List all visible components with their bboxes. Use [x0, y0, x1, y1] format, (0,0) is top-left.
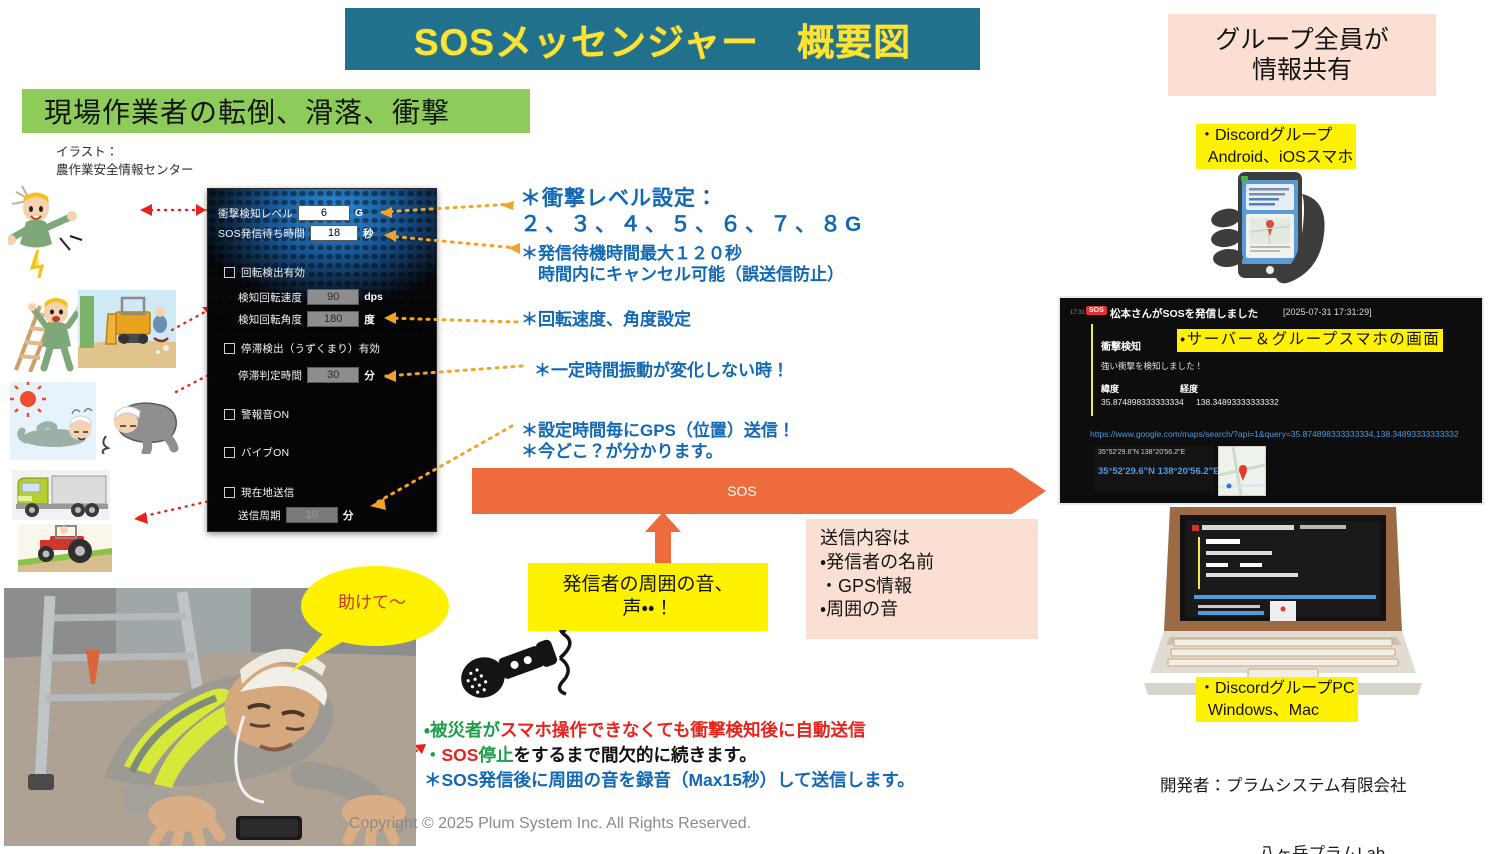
- annotation-shock-level-values: ２、３、４、５、６、７、８G: [520, 211, 865, 239]
- discord-message-title: 松本さんがSOSを発信しました: [1110, 306, 1258, 321]
- bottom-line2-seg3: をするまで間欠的に続きます。: [513, 745, 756, 765]
- group-share-line1: グループ全員が: [1215, 25, 1389, 55]
- bottom-feature-text: ・被災者がスマホ操作できなくても衝撃検知後に自動送信 ・SOS停止をするまで間欠…: [424, 718, 1074, 793]
- illustration-hand-smartphone: [1210, 166, 1370, 296]
- discord-longitude-value: 138.34893333333332: [1196, 397, 1279, 407]
- setting-value-wait-time[interactable]: 18: [310, 225, 358, 241]
- annotation-gps-l1: ＊設定時間毎にGPS（位置）送信！: [521, 420, 795, 442]
- copyright-text: Copyright © 2025 Plum System Inc. All Ri…: [0, 815, 1100, 833]
- setting-label-alarm: 警報音ON: [241, 407, 289, 422]
- setting-row-wait-time[interactable]: SOS発信待ち時間 18 秒: [218, 225, 373, 241]
- setting-checkbox-rotation[interactable]: 回転検出有効: [224, 265, 305, 280]
- setting-label-stagnation-enable: 停滞検出（うずくまり）有効: [241, 341, 380, 356]
- contact-developer-lab: 八ヶ岳プラムLab: [1160, 843, 1508, 854]
- discord-embed-bar: [1091, 324, 1093, 416]
- setting-unit-rotation-speed: dps: [364, 291, 383, 303]
- illustration-bulldozer: [78, 290, 176, 368]
- discord-coord-large: 35°52'29.6"N 138°20'56.2"E: [1098, 466, 1220, 477]
- sound-info-box: 発信者の周囲の音、 声・・！: [528, 563, 768, 631]
- illustration-credit: イラスト： 農作業安全情報センター: [56, 143, 276, 179]
- setting-row-send-cycle[interactable]: 送信周期 10 分: [238, 507, 353, 523]
- sound-info-line2: 声・・！: [623, 597, 674, 621]
- discord-embed-subtext: 強い衝撃を検知しました！: [1101, 360, 1203, 372]
- checkbox-icon[interactable]: [224, 267, 235, 278]
- discord-map-thumbnail[interactable]: [1218, 446, 1266, 496]
- annotation-wait-time-l2: 時間内にキャンセル可能（誤送信防止）: [521, 264, 844, 286]
- setting-value-shock-level[interactable]: 6: [298, 205, 350, 221]
- slide-canvas: SOSメッセンジャー 概要図 現場作業者の転倒、滑落、衝撃 イラスト： 農作業安…: [0, 0, 1508, 854]
- discord-latitude-value: 35.874898333333334: [1101, 397, 1184, 407]
- microphone-icon: [452, 630, 582, 705]
- callout-arrow-rotation: [362, 306, 524, 330]
- bottom-line1-seg1: スマホ操作できなくても衝撃検知後に自動送信: [500, 720, 866, 740]
- setting-label-send-cycle: 送信周期: [238, 508, 281, 523]
- illustration-credit-line2: 農作業安全情報センター: [56, 161, 276, 179]
- discord-coord-small: 35°52'29.6"N 138°20'56.2"E: [1098, 449, 1185, 456]
- annotation-stagnation: ＊一定時間振動が変化しない時！: [534, 360, 789, 382]
- annotation-shock-level-title: ＊衝撃レベル設定：: [520, 185, 718, 213]
- bottom-line1-seg0: ・被災者が: [424, 720, 500, 740]
- red-arrow-shock: [108, 196, 213, 226]
- setting-label-rotation-enable: 回転検出有効: [241, 265, 305, 280]
- send-contents-box: 送信内容は ・発信者の名前 ・GPS情報 ・周囲の音: [806, 519, 1038, 639]
- group-share-line2: 情報共有: [1252, 55, 1352, 85]
- setting-checkbox-stagnation[interactable]: 停滞検出（うずくまり）有効: [224, 341, 380, 356]
- callout-arrow-stagnation: [362, 358, 530, 384]
- setting-label-stagnation-time: 停滞判定時間: [238, 368, 302, 383]
- contact-developer: 開発者：プラムシステム有限会社: [1160, 775, 1508, 798]
- setting-label-vibration: バイブON: [241, 445, 289, 460]
- callout-arrow-wait-time: [362, 222, 524, 254]
- page-title-bar: SOSメッセンジャー 概要図: [345, 8, 980, 70]
- setting-row-rotation-angle[interactable]: 検知回転角度 180 度: [238, 311, 375, 327]
- bottom-feature-line2: ・SOS停止をするまで間欠的に続きます。: [424, 743, 1074, 768]
- illustration-laptop: [1140, 505, 1426, 700]
- send-contents-item-1: ・GPS情報: [820, 575, 1038, 599]
- highlight-server-label: ・サーバー＆グループスマホの画面: [1177, 329, 1443, 352]
- setting-row-stagnation-time[interactable]: 停滞判定時間 30 分: [238, 367, 375, 383]
- send-contents-heading: 送信内容は: [820, 527, 1038, 551]
- bottom-line2-seg1: SOS: [442, 745, 479, 765]
- speech-bubble-shape: [287, 562, 457, 672]
- annotation-rotation: ＊回転速度、角度設定: [521, 309, 691, 331]
- bottom-line2-seg0: ・: [424, 745, 442, 765]
- checkbox-icon[interactable]: [224, 343, 235, 354]
- illustration-truck: [12, 470, 110, 520]
- discord-longitude-label: 経度: [1180, 382, 1198, 395]
- checkbox-icon[interactable]: [224, 447, 235, 458]
- discord-message-screenshot: 17:31 SOS 松本さんがSOSを発信しました [2025-07-31 17…: [1058, 296, 1484, 505]
- annotation-wait-time-l1: ＊発信待機時間最大１２０秒: [521, 243, 742, 265]
- bottom-line3-seg0: ＊SOS発信後に周囲の音を録音（Max15秒）して送信します。: [424, 770, 915, 790]
- illustration-heatstroke: [10, 382, 96, 460]
- setting-label-rotation-angle: 検知回転角度: [238, 312, 302, 327]
- red-arrow-location: [110, 494, 218, 530]
- setting-value-send-cycle[interactable]: 10: [286, 507, 338, 523]
- callout-arrow-shock-level: [362, 196, 522, 222]
- annotation-gps-l2: ＊今どこ？が分かります。: [521, 441, 723, 463]
- send-contents-item-2: ・周囲の音: [820, 598, 1038, 622]
- contact-block: 開発者：プラムシステム有限会社 八ヶ岳プラムLab 責任者：松本敬吾 TEL：0…: [1160, 730, 1508, 854]
- bottom-line2-seg2: 停止: [478, 745, 513, 765]
- illustration-fall-worker: [8, 178, 108, 278]
- setting-row-shock-level[interactable]: 衝撃検知レベル 6 G: [218, 205, 363, 221]
- setting-label-rotation-speed: 検知回転速度: [238, 290, 302, 305]
- illustration-credit-line1: イラスト：: [56, 143, 276, 161]
- setting-row-rotation-speed[interactable]: 検知回転速度 90 dps: [238, 289, 383, 305]
- setting-value-stagnation-time[interactable]: 30: [307, 367, 359, 383]
- setting-label-shock-level: 衝撃検知レベル: [218, 206, 293, 221]
- discord-message-timestamp: [2025-07-31 17:31:29]: [1283, 307, 1372, 317]
- sos-badge-icon: SOS: [1086, 306, 1107, 315]
- discord-latitude-label: 緯度: [1101, 382, 1119, 395]
- setting-label-location-send: 現在地送信: [241, 485, 295, 500]
- setting-value-rotation-angle[interactable]: 180: [307, 311, 359, 327]
- sos-flow-arrow: SOS: [472, 468, 1046, 514]
- highlight-pc-label: ・DiscordグループPC Windows、Mac: [1196, 677, 1358, 722]
- subject-banner: 現場作業者の転倒、滑落、衝撃: [22, 89, 530, 133]
- group-share-box: グループ全員が 情報共有: [1168, 14, 1436, 96]
- setting-checkbox-alarm[interactable]: 警報音ON: [224, 407, 289, 422]
- highlight-smartphone-label: ・Discordグループ Android、iOSスマホ: [1196, 124, 1356, 169]
- speech-bubble-text: 助けて〜: [287, 588, 457, 613]
- checkbox-icon[interactable]: [224, 409, 235, 420]
- setting-value-rotation-speed[interactable]: 90: [307, 289, 359, 305]
- setting-checkbox-vibration[interactable]: バイブON: [224, 445, 289, 460]
- discord-map-link[interactable]: https://www.google.com/maps/search/?api=…: [1090, 429, 1459, 439]
- bottom-feature-line3: ＊SOS発信後に周囲の音を録音（Max15秒）して送信します。: [424, 768, 1074, 793]
- discord-message-time: 17:31: [1070, 310, 1085, 316]
- setting-label-wait-time: SOS発信待ち時間: [218, 226, 305, 241]
- send-contents-item-0: ・発信者の名前: [820, 551, 1038, 575]
- bottom-feature-line1: ・被災者がスマホ操作できなくても衝撃検知後に自動送信: [424, 718, 1074, 743]
- illustration-tractor: [18, 524, 112, 572]
- discord-embed-heading: 衝撃検知: [1101, 338, 1141, 353]
- subject-banner-label: 現場作業者の転倒、滑落、衝撃: [22, 91, 450, 131]
- sound-info-line1: 発信者の周囲の音、: [562, 573, 733, 597]
- setting-checkbox-location-send[interactable]: 現在地送信: [224, 485, 295, 500]
- speech-bubble: 助けて〜: [287, 562, 457, 672]
- page-title: SOSメッセンジャー 概要図: [414, 12, 911, 66]
- sos-arrow-label: SOS: [472, 468, 1012, 514]
- checkbox-icon[interactable]: [224, 487, 235, 498]
